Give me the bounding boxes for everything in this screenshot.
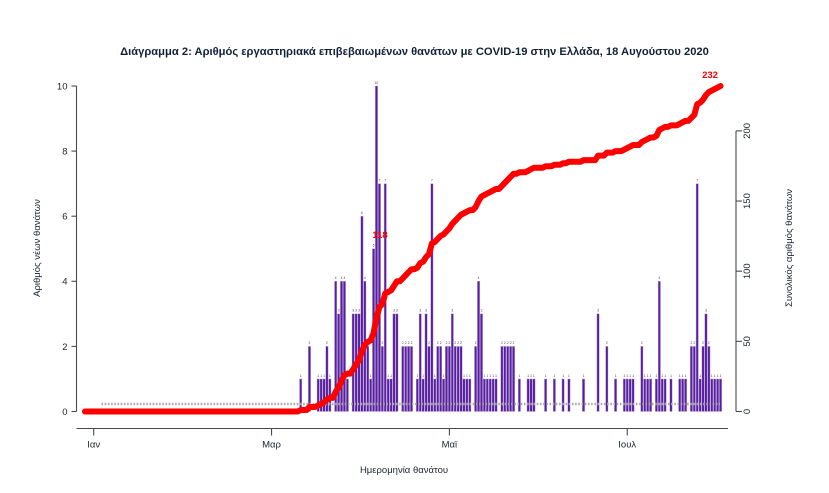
bar (442, 379, 444, 412)
bar (696, 184, 698, 412)
y-axis-left-tick-label: 2 (62, 342, 67, 353)
bar (437, 346, 439, 411)
bar-value-label: 1 (518, 374, 520, 378)
bar (533, 379, 535, 412)
bar-value-label: 4 (335, 276, 337, 280)
bar (711, 379, 713, 412)
bar-value-label: 1 (623, 374, 625, 378)
bar-value-label: 2 (641, 341, 643, 345)
bar-value-label: 2 (411, 341, 413, 345)
bar-value-label: 1 (562, 374, 564, 378)
bar (428, 346, 430, 411)
bar (582, 379, 584, 412)
y-axis-left: 0246810 (57, 81, 77, 418)
bar (626, 379, 628, 412)
bar (337, 314, 339, 412)
bar (679, 379, 681, 412)
bar-value-label: 7 (379, 178, 381, 182)
bar (457, 346, 459, 411)
x-axis: ΙανΜαρΜαϊΙουλ (77, 429, 729, 451)
bar-value-label: 7 (696, 178, 698, 182)
bar (361, 216, 363, 411)
bar (300, 379, 302, 412)
bar (705, 314, 707, 412)
bar-value-label: 1 (644, 374, 646, 378)
bar (448, 346, 450, 411)
bar-value-label: 1 (714, 374, 716, 378)
y-axis-right-tick-label: 200 (742, 123, 753, 139)
bar (367, 346, 369, 411)
bar-value-label: 2 (457, 341, 459, 345)
bar-value-label: 2 (606, 341, 608, 345)
bar (343, 281, 345, 411)
bar (661, 379, 663, 412)
bar-value-label: 1 (679, 374, 681, 378)
bar-value-label: 3 (597, 309, 599, 313)
y-axis-left-tick-label: 4 (62, 277, 67, 288)
bar-value-label: 2 (408, 341, 410, 345)
bar (690, 346, 692, 411)
bar-value-label: 1 (434, 374, 436, 378)
bar-value-label: 1 (443, 374, 445, 378)
bar (451, 314, 453, 412)
bar (527, 379, 529, 412)
chart-title: Διάγραμμα 2: Αριθμός εργαστηριακά επιβεβ… (120, 46, 709, 58)
bar (658, 281, 660, 411)
bar-value-label: 4 (364, 276, 366, 280)
bar-value-label: 1 (422, 374, 424, 378)
bar-value-label: 1 (300, 374, 302, 378)
bar (646, 379, 648, 412)
bar (308, 346, 310, 411)
bar-value-label: 1 (329, 374, 331, 378)
bar-value-label: 1 (656, 374, 658, 378)
y-axis-left-tick-label: 10 (57, 81, 68, 92)
y-axis-left-tick-label: 0 (62, 407, 67, 418)
bar-value-label: 2 (405, 341, 407, 345)
bar-value-label: 1 (615, 374, 617, 378)
bar-value-label: 1 (632, 374, 634, 378)
bar (480, 314, 482, 412)
bar-value-label: 1 (469, 374, 471, 378)
bar-value-label: 2 (454, 341, 456, 345)
bar-value-label: 2 (449, 341, 451, 345)
bar (699, 379, 701, 412)
bar-value-label: 2 (437, 341, 439, 345)
bar (393, 314, 395, 412)
bar (454, 346, 456, 411)
bar (381, 346, 383, 411)
bar (323, 379, 325, 412)
bar-value-label: 2 (475, 341, 477, 345)
chart-container: Διάγραμμα 2: Αριθμός εργαστηριακά επιβεβ… (0, 0, 829, 493)
bar (460, 346, 462, 411)
bar-value-label: 1 (629, 374, 631, 378)
bar (463, 379, 465, 412)
bar-value-label: 4 (658, 276, 660, 280)
bar (553, 379, 555, 412)
bar-value-label: 1 (685, 374, 687, 378)
bar-value-label: 2 (326, 341, 328, 345)
bar-value-label: 4 (478, 276, 480, 280)
bar (466, 379, 468, 412)
x-axis-tick-label: Μαρ (262, 440, 281, 451)
bar-value-label: 1 (720, 374, 722, 378)
bar-value-label: 3 (425, 309, 427, 313)
x-axis-tick-label: Ιαν (87, 440, 100, 451)
bar-value-label: 1 (486, 374, 488, 378)
y-axis-right-tick-label: 50 (742, 336, 753, 347)
bar-value-label: 7 (431, 178, 433, 182)
bar-value-label: 6 (361, 211, 363, 215)
bar (629, 379, 631, 412)
bar-value-label: 3 (355, 309, 357, 313)
bar-value-label: 2 (702, 341, 704, 345)
bar-value-label: 2 (708, 341, 710, 345)
y-axis-left-tick-label: 8 (62, 147, 67, 158)
bar (509, 346, 511, 411)
x-axis-tick-label: Ιουλ (618, 440, 636, 451)
bar (405, 346, 407, 411)
bar-value-label: 7 (384, 178, 386, 182)
bar-value-label: 2 (309, 341, 311, 345)
bar (402, 346, 404, 411)
bar (396, 314, 398, 412)
bar (469, 379, 471, 412)
bar (434, 379, 436, 412)
bar-value-label: 1 (583, 374, 585, 378)
bar-value-label: 3 (419, 309, 421, 313)
bar-value-label: 1 (553, 374, 555, 378)
bar (641, 346, 643, 411)
line-annotations: 118232 (372, 70, 718, 241)
bar (714, 379, 716, 412)
bar-value-label: 1 (699, 374, 701, 378)
bar-value-label: 1 (661, 374, 663, 378)
bar (655, 379, 657, 412)
bar (407, 346, 409, 411)
bar-value-label: 5 (373, 244, 375, 248)
bar-value-label: 3 (481, 309, 483, 313)
bar-value-label: 1 (647, 374, 649, 378)
bar (489, 379, 491, 412)
bar-value-label: 1 (370, 374, 372, 378)
bar-value-label: 3 (396, 309, 398, 313)
bar-value-label: 2 (428, 341, 430, 345)
bar (681, 379, 683, 412)
bar (474, 346, 476, 411)
bar (664, 379, 666, 412)
bar (422, 379, 424, 412)
bar (719, 379, 721, 412)
bar (708, 346, 710, 411)
bar-value-label: 4 (344, 276, 346, 280)
bar (410, 346, 412, 411)
bar-value-label: 1 (466, 374, 468, 378)
bar-value-label: 1 (717, 374, 719, 378)
bar-value-label: 2 (504, 341, 506, 345)
y-axis-right: 050100150200 (736, 123, 753, 414)
bar (492, 379, 494, 412)
bar (378, 184, 380, 412)
bar-value-label: 1 (626, 374, 628, 378)
bar (439, 346, 441, 411)
bar-value-label: 1 (416, 374, 418, 378)
bar-value-label: 1 (323, 374, 325, 378)
bar (670, 379, 672, 412)
bar-value-label: 1 (489, 374, 491, 378)
bar (693, 346, 695, 411)
bar-value-label: 2 (460, 341, 462, 345)
cumulative-annotation: 118 (372, 230, 387, 241)
bar-value-label: 4 (341, 276, 343, 280)
bar-value-label: 2 (402, 341, 404, 345)
bar (370, 379, 372, 412)
bar-value-label: 1 (483, 374, 485, 378)
bar (507, 346, 509, 411)
y-axis-right-tick-label: 100 (742, 263, 753, 279)
bar-value-label: 2 (501, 341, 503, 345)
bar (340, 281, 342, 411)
bar (425, 314, 427, 412)
bar-value-label: 1 (492, 374, 494, 378)
y-axis-right-title: Συνολικός αριθμός θανάτων (784, 189, 795, 307)
bar (518, 379, 520, 412)
bar-value-label: 1 (682, 374, 684, 378)
bar-value-label: 2 (693, 341, 695, 345)
bar (375, 86, 377, 412)
bar-value-label: 1 (664, 374, 666, 378)
bar (544, 379, 546, 412)
bar-value-label: 1 (527, 374, 529, 378)
bar-value-label: 2 (513, 341, 515, 345)
bar-value-label: 2 (440, 341, 442, 345)
y-axis-right-tick-label: 0 (742, 409, 753, 414)
bar-value-label: 2 (507, 341, 509, 345)
bar-value-label: 1 (495, 374, 497, 378)
bar-value-label: 1 (463, 374, 465, 378)
bar (649, 379, 651, 412)
bar-value-label: 1 (320, 374, 322, 378)
bar-value-label: 3 (393, 309, 395, 313)
bar (644, 379, 646, 412)
x-axis-tick-label: Μαϊ (442, 440, 458, 451)
bar-value-label: 1 (533, 374, 535, 378)
bar-value-label: 1 (568, 374, 570, 378)
y-axis-right-tick-label: 150 (742, 193, 753, 209)
bar-value-label: 1 (387, 374, 389, 378)
bar (623, 379, 625, 412)
bar (416, 379, 418, 412)
y-axis-left-title: Αριθμός νέων θανάτων (32, 199, 43, 297)
bar-value-label: 1 (390, 374, 392, 378)
bar (597, 314, 599, 412)
bar (501, 346, 503, 411)
bar-value-label: 2 (381, 341, 383, 345)
bar (614, 379, 616, 412)
bar-value-label: 1 (650, 374, 652, 378)
bar (530, 379, 532, 412)
bar-value-label: 3 (705, 309, 707, 313)
bar-value-label: 3 (451, 309, 453, 313)
bar-value-label: 3 (338, 309, 340, 313)
bar (486, 379, 488, 412)
cumulative-annotation: 232 (702, 70, 718, 81)
bar (512, 346, 514, 411)
bar (716, 379, 718, 412)
bar-value-label: 1 (670, 374, 672, 378)
bar-value-label: 1 (545, 374, 547, 378)
bar (390, 379, 392, 412)
bar-value-label: 1 (317, 374, 319, 378)
bar (606, 346, 608, 411)
bar-value-label: 10 (375, 81, 379, 85)
bar (346, 379, 348, 412)
bar (419, 314, 421, 412)
bar-value-label: 1 (711, 374, 713, 378)
bar-value-label: 2 (510, 341, 512, 345)
bar-value-label: 2 (690, 341, 692, 345)
bar (483, 379, 485, 412)
bar (562, 379, 564, 412)
bar-value-label: 3 (358, 309, 360, 313)
bar-value-label: 3 (352, 309, 354, 313)
bar (495, 379, 497, 412)
bar (431, 184, 433, 412)
x-axis-title: Ημερομηνία θανάτου (360, 465, 448, 476)
y-axis-left-tick-label: 6 (62, 212, 67, 223)
bar-value-label: 1 (530, 374, 532, 378)
bar (684, 379, 686, 412)
bar (568, 379, 570, 412)
bar (445, 346, 447, 411)
bar (387, 379, 389, 412)
bar-value-label: 2 (446, 341, 448, 345)
bar (477, 281, 479, 411)
covid-deaths-chart: Διάγραμμα 2: Αριθμός εργαστηριακά επιβεβ… (0, 0, 829, 493)
bar (702, 346, 704, 411)
bar (632, 379, 634, 412)
bar (504, 346, 506, 411)
